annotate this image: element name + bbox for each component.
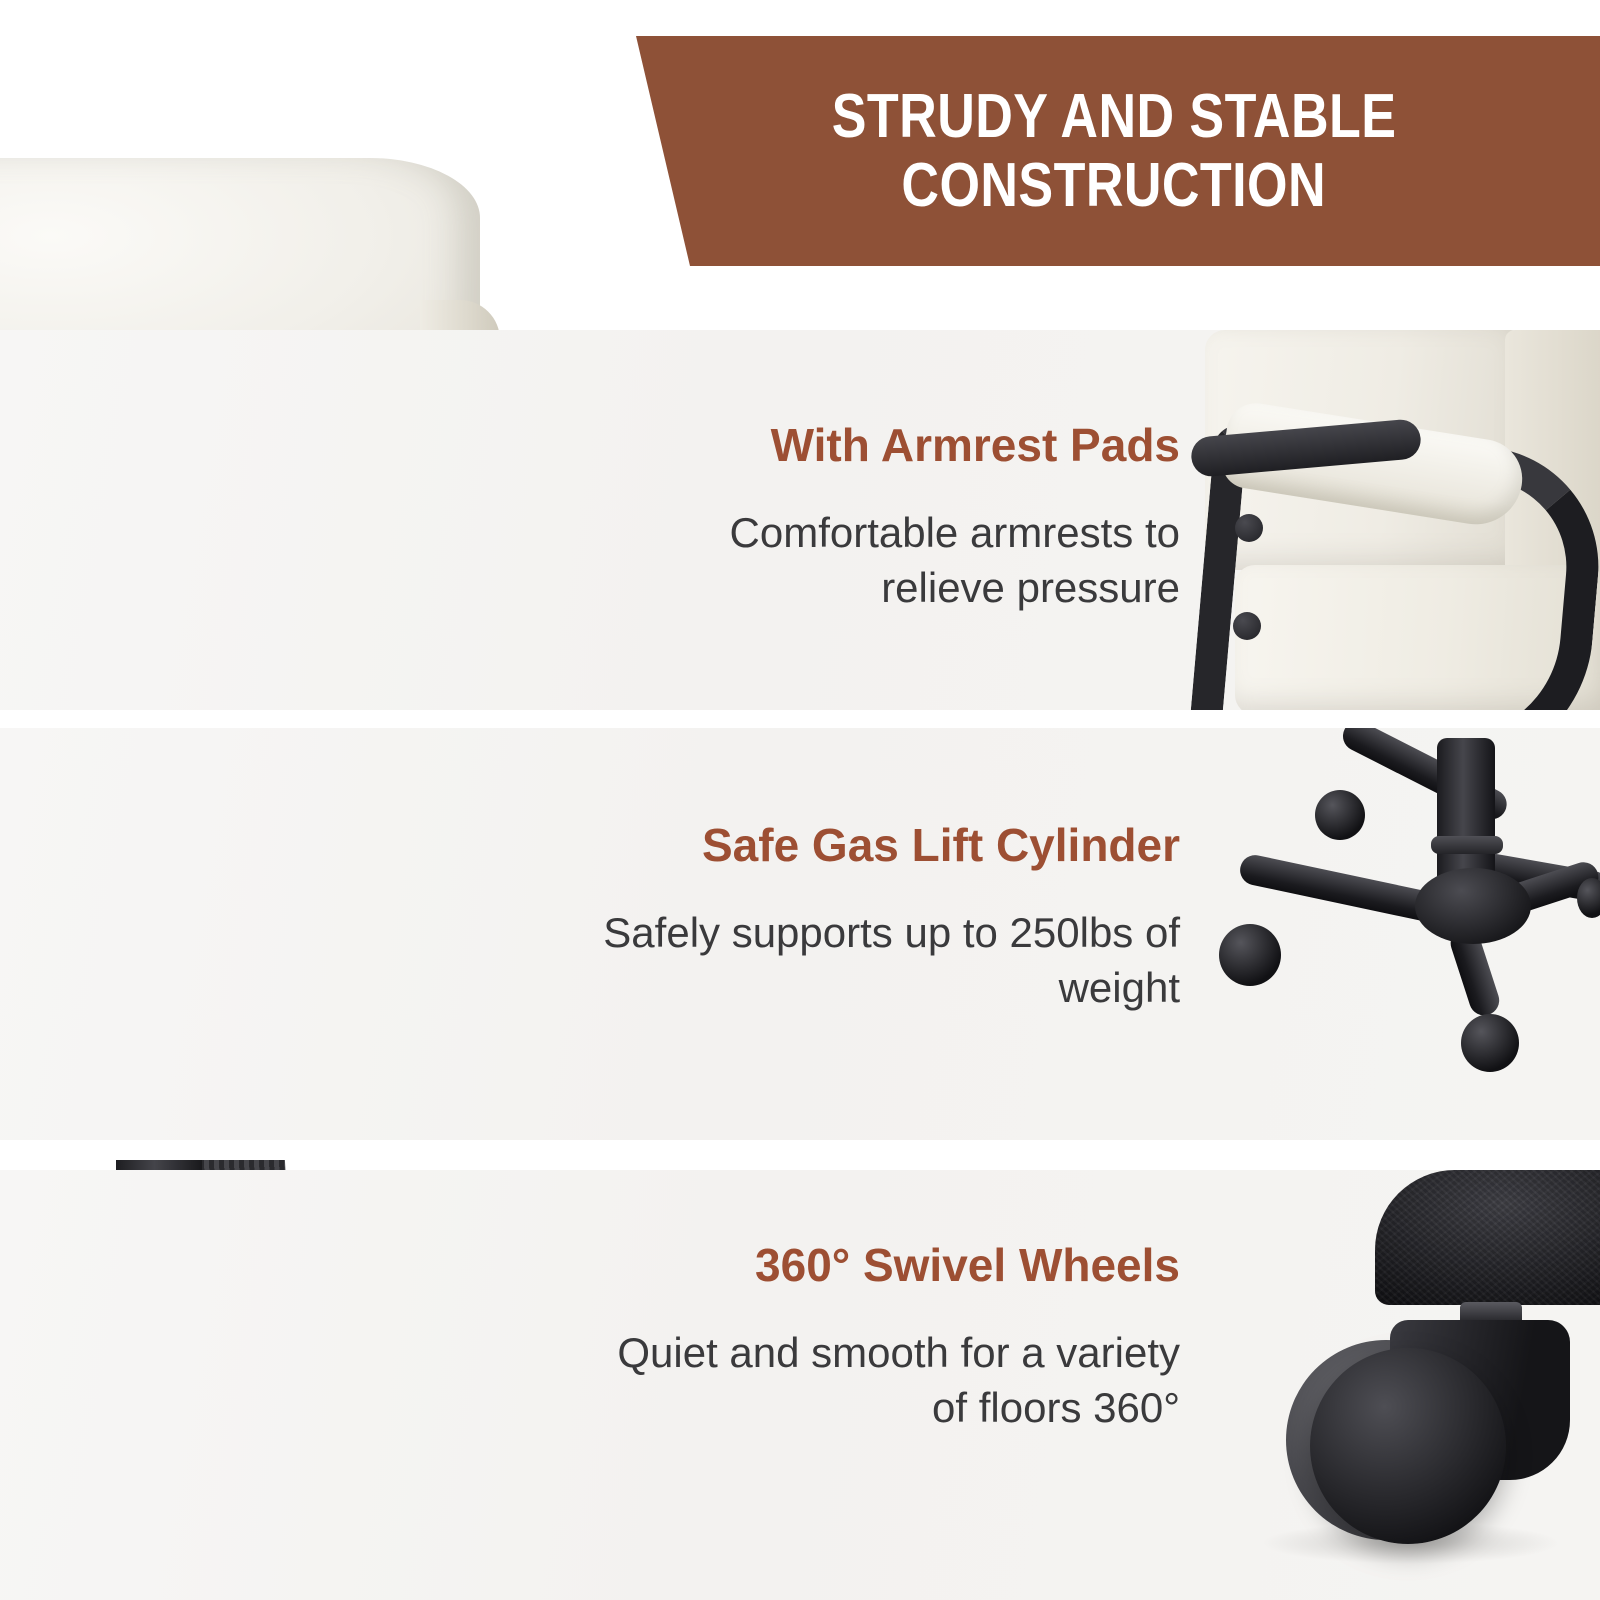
closeup-base-leg-texture — [1375, 1170, 1600, 1305]
banner-bottom-gap — [560, 266, 1600, 330]
feature-text-gas-lift: Safe Gas Lift Cylinder Safely supports u… — [560, 820, 1180, 1015]
caster-wheel — [1315, 790, 1365, 840]
cylinder-collar — [1431, 836, 1503, 854]
swivel-caster-closeup-photo — [1200, 1170, 1600, 1600]
gas-lift-base-photo — [1175, 728, 1600, 1140]
feature-description: Safely supports up to 250lbs of weight — [560, 905, 1180, 1016]
feature-text-swivel-wheels: 360° Swivel Wheels Quiet and smooth for … — [600, 1240, 1180, 1435]
caster-wheel — [1577, 878, 1600, 918]
caster-wheel — [1219, 924, 1281, 986]
infographic-canvas: STRUDY AND STABLE CONSTRUCTION — [0, 0, 1600, 1600]
feature-description: Comfortable armrests to relieve pressure — [600, 505, 1180, 616]
caster-wheel — [1461, 1014, 1519, 1072]
banner-title-line-1: STRUDY AND STABLE — [832, 84, 1397, 149]
feature-title: With Armrest Pads — [600, 420, 1180, 471]
banner-title-line-2: CONSTRUCTION — [902, 153, 1327, 218]
caster-wheel-front — [1310, 1348, 1506, 1544]
feature-title: 360° Swivel Wheels — [600, 1240, 1180, 1291]
armrest-pad-closeup-photo — [1175, 330, 1600, 710]
feature-title: Safe Gas Lift Cylinder — [560, 820, 1180, 871]
gas-lift-cylinder — [1437, 738, 1495, 888]
armrest-bolt-cover-icon — [1233, 612, 1261, 640]
feature-description: Quiet and smooth for a variety of floors… — [600, 1325, 1180, 1436]
feature-text-armrest: With Armrest Pads Comfortable armrests t… — [600, 420, 1180, 615]
panel-divider — [0, 710, 1600, 730]
armrest-bolt-cover-icon — [1235, 514, 1263, 542]
header-banner: STRUDY AND STABLE CONSTRUCTION — [628, 36, 1600, 266]
panel-divider — [0, 1140, 1600, 1160]
base-hub — [1415, 868, 1531, 944]
